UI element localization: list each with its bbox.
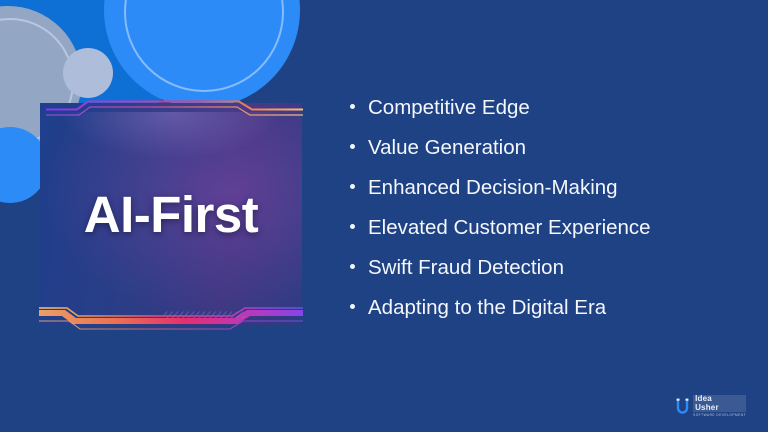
decorative-circle-grey-top bbox=[36, 0, 78, 10]
list-item-label: Competitive Edge bbox=[368, 96, 530, 120]
list-item: Competitive Edge bbox=[350, 96, 750, 136]
bullet-dot-icon bbox=[350, 144, 355, 149]
decorative-ring-bright-blue bbox=[124, 0, 284, 92]
brand-logo[interactable]: Idea Usher SOFTWARE DEVELOPMENT bbox=[675, 395, 746, 418]
list-item-label: Value Generation bbox=[368, 136, 526, 160]
panel-title: AI-First bbox=[40, 96, 302, 332]
logo-tagline: SOFTWARE DEVELOPMENT bbox=[693, 413, 746, 418]
bullet-dot-icon bbox=[350, 224, 355, 229]
list-item: Swift Fraud Detection bbox=[350, 256, 750, 296]
list-item: Value Generation bbox=[350, 136, 750, 176]
list-item-label: Swift Fraud Detection bbox=[368, 256, 564, 280]
list-item: Enhanced Decision-Making bbox=[350, 176, 750, 216]
list-item-label: Elevated Customer Experience bbox=[368, 216, 651, 240]
decorative-circle-light-grey bbox=[63, 48, 113, 98]
bullet-dot-icon bbox=[350, 304, 355, 309]
bullet-list: Competitive Edge Value Generation Enhanc… bbox=[350, 96, 750, 336]
list-item-label: Enhanced Decision-Making bbox=[368, 176, 618, 200]
logo-line-two: Usher bbox=[693, 404, 746, 413]
list-item: Adapting to the Digital Era bbox=[350, 296, 750, 336]
logo-wordmark: Idea Usher SOFTWARE DEVELOPMENT bbox=[693, 395, 746, 418]
slide-canvas: AI-First Competitive Edge Value Generati… bbox=[0, 0, 768, 432]
list-item: Elevated Customer Experience bbox=[350, 216, 750, 256]
bullet-dot-icon bbox=[350, 184, 355, 189]
list-item-label: Adapting to the Digital Era bbox=[368, 296, 606, 320]
decorative-circle-bright-blue bbox=[104, 0, 300, 108]
bullet-dot-icon bbox=[350, 104, 355, 109]
bullet-dot-icon bbox=[350, 264, 355, 269]
title-panel: AI-First bbox=[40, 96, 302, 332]
u-magnet-icon bbox=[675, 398, 690, 415]
